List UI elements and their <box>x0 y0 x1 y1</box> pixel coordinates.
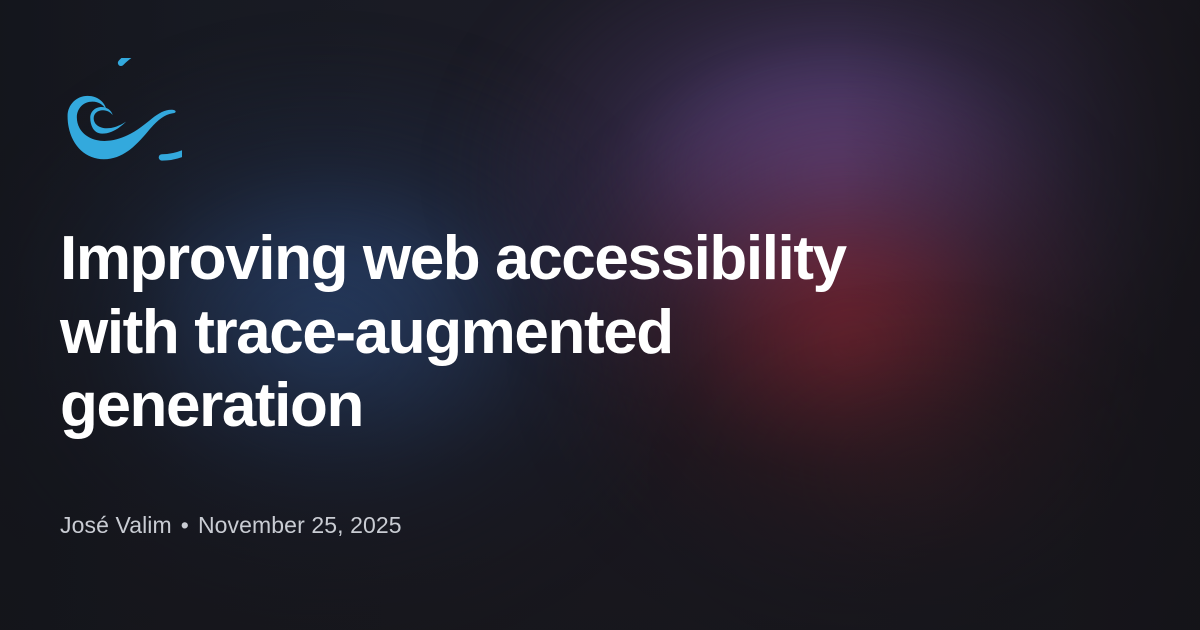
byline-date: November 25, 2025 <box>198 512 402 540</box>
byline-separator: • <box>172 512 198 540</box>
page-title: Improving web accessibility with trace-a… <box>60 180 950 512</box>
byline: José Valim • November 25, 2025 <box>60 512 1140 540</box>
byline-author: José Valim <box>60 512 172 540</box>
social-share-card: Improving web accessibility with trace-a… <box>0 0 1200 630</box>
wave-circle-logo-icon <box>60 58 182 180</box>
page-title-text: Improving web accessibility with trace-a… <box>60 222 950 441</box>
card-content: Improving web accessibility with trace-a… <box>0 0 1200 630</box>
